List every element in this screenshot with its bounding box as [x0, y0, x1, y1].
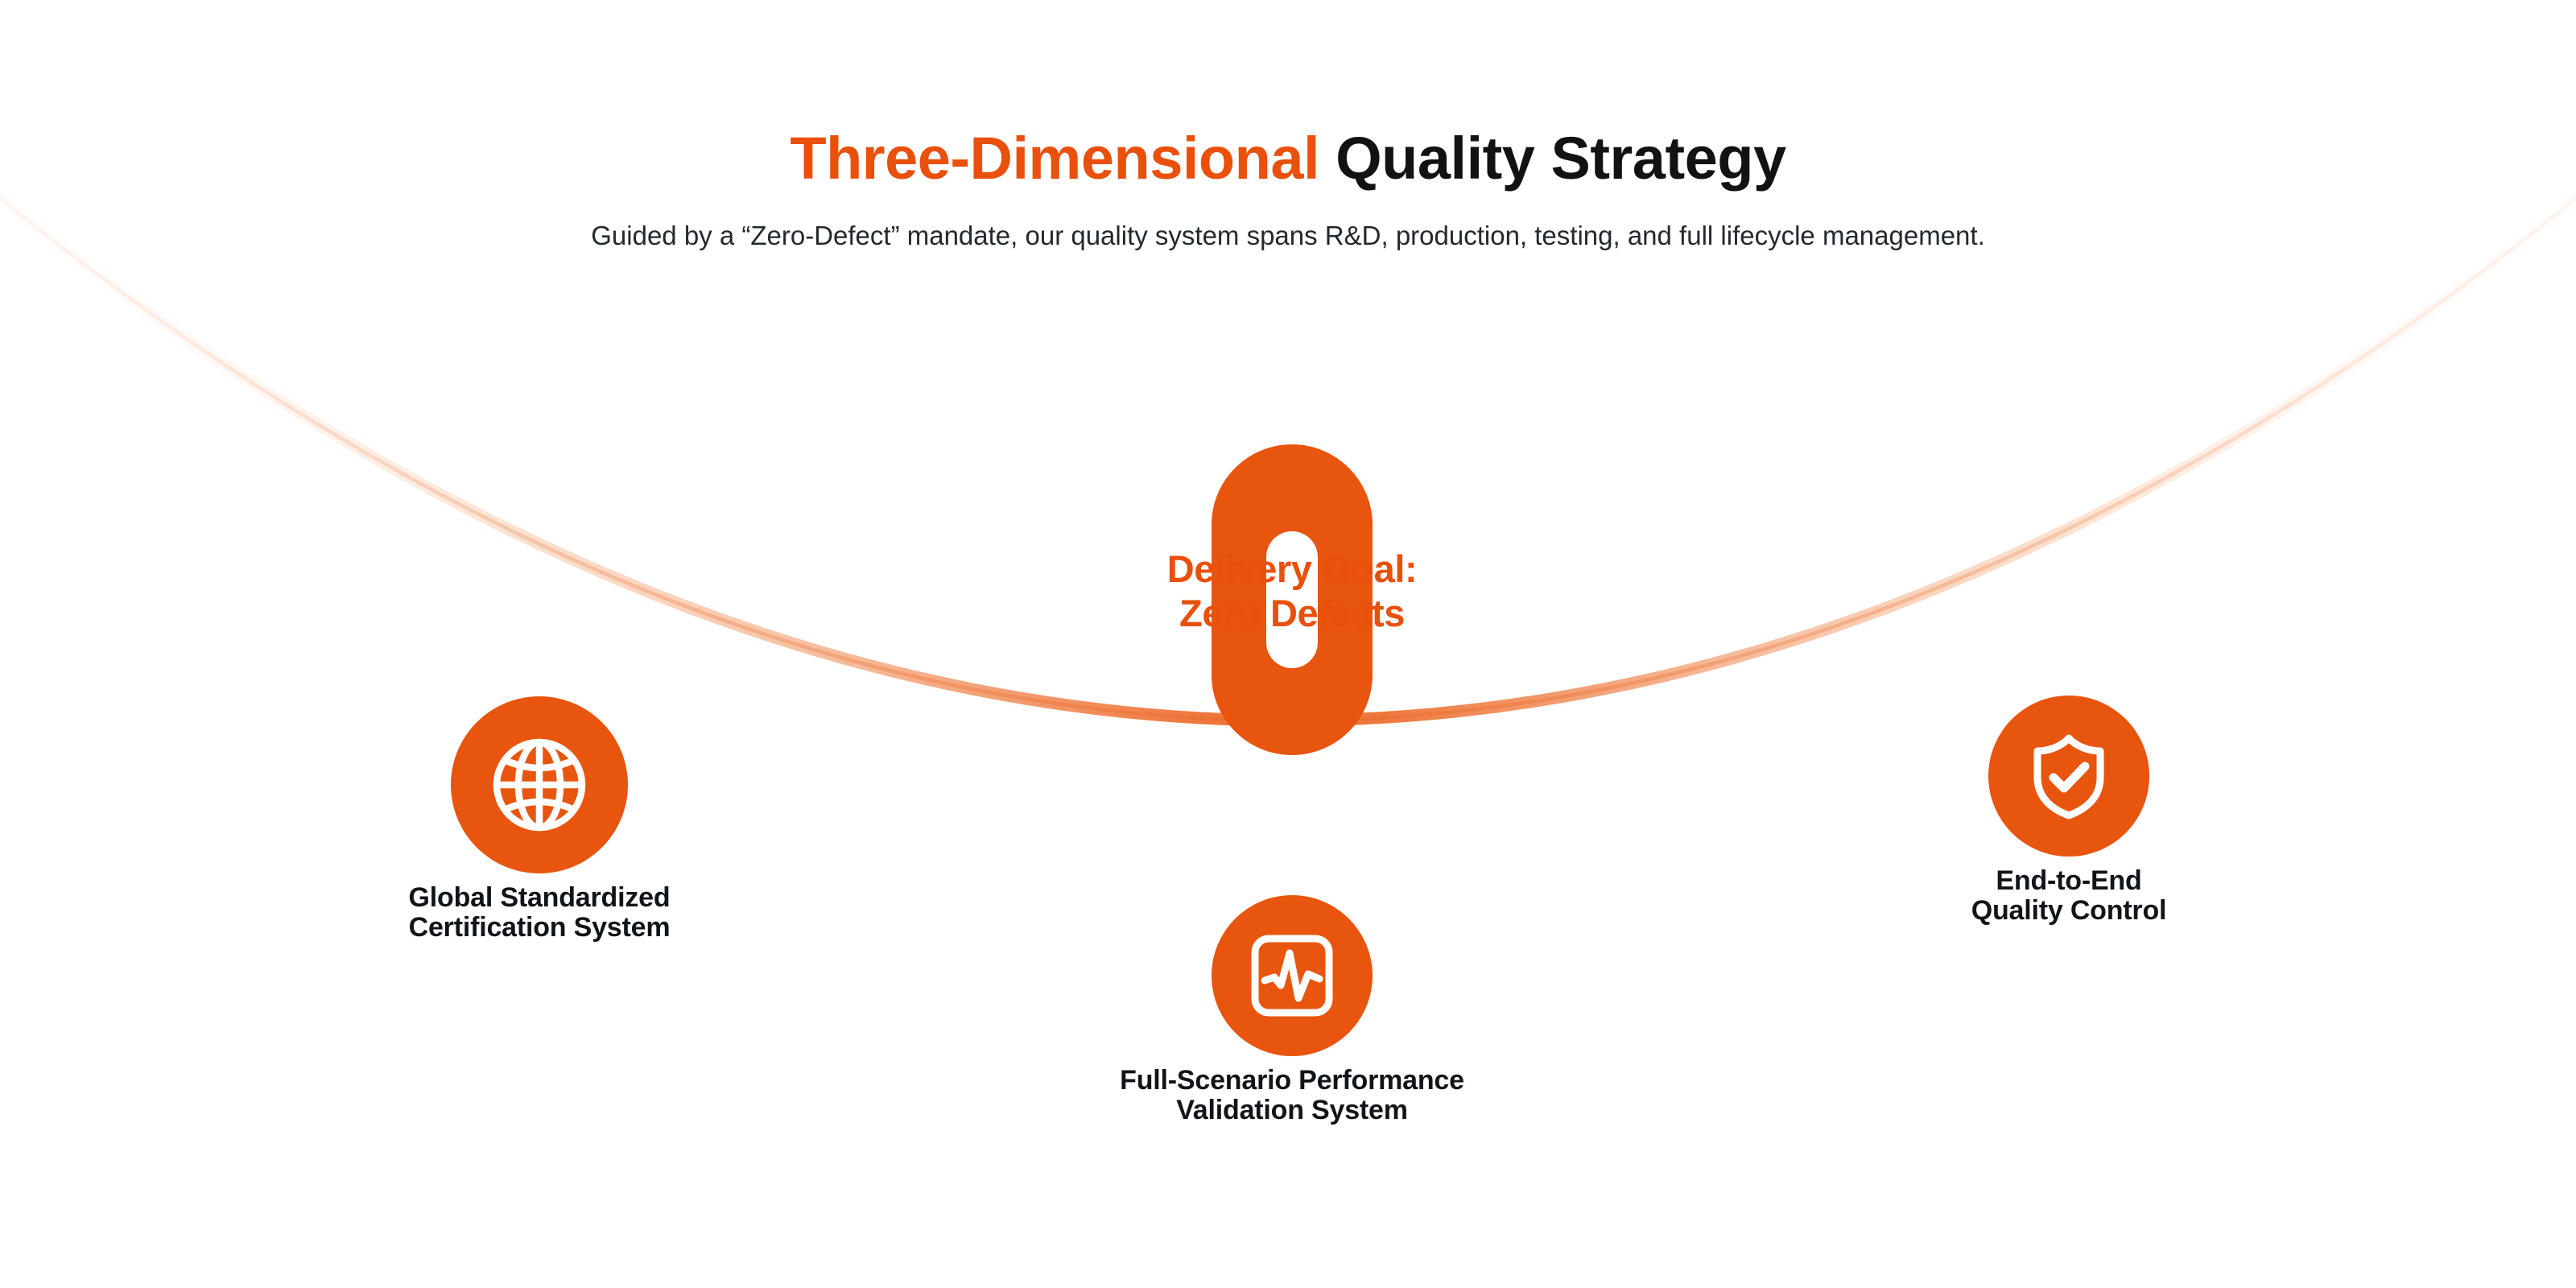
node-global-label: Global Standardized Certification System	[298, 883, 781, 942]
node-global-label-line-2: Certification System	[298, 913, 781, 943]
node-performance-label-line-2: Validation System	[1051, 1096, 1534, 1125]
page-subtitle: Guided by a “Zero-Defect” mandate, our q…	[0, 188, 2576, 254]
node-quality-label-line-2: Quality Control	[1827, 896, 2310, 926]
node-quality-circle[interactable]	[1988, 696, 2149, 857]
node-global-standardized-certification[interactable]: Global Standardized Certification System	[298, 696, 781, 942]
globe-icon	[488, 733, 591, 836]
shield-check-icon	[2024, 731, 2114, 821]
node-performance-label: Full-Scenario Performance Validation Sys…	[1051, 1066, 1534, 1125]
header: Three-Dimensional Quality Strategy Guide…	[0, 0, 2576, 254]
node-quality-label: End-to-End Quality Control	[1827, 866, 2310, 925]
waveform-monitor-icon	[1247, 931, 1337, 1021]
page-title-accent: Three-Dimensional	[790, 125, 1319, 192]
node-full-scenario-performance-validation[interactable]: Full-Scenario Performance Validation Sys…	[1051, 895, 1534, 1125]
infographic-canvas: Three-Dimensional Quality Strategy Guide…	[0, 0, 2576, 1288]
node-performance-label-line-1: Full-Scenario Performance	[1120, 1065, 1464, 1096]
node-global-circle[interactable]	[451, 696, 628, 873]
node-end-to-end-quality-control[interactable]: End-to-End Quality Control	[1827, 696, 2310, 925]
node-quality-label-line-1: End-to-End	[1996, 865, 2141, 896]
zero-glyph-graphic	[1212, 444, 1373, 755]
page-title-plain: Quality Strategy	[1319, 125, 1786, 192]
node-performance-circle[interactable]	[1212, 895, 1373, 1056]
node-global-label-line-1: Global Standardized	[409, 882, 671, 913]
page-title: Three-Dimensional Quality Strategy	[0, 0, 2576, 188]
